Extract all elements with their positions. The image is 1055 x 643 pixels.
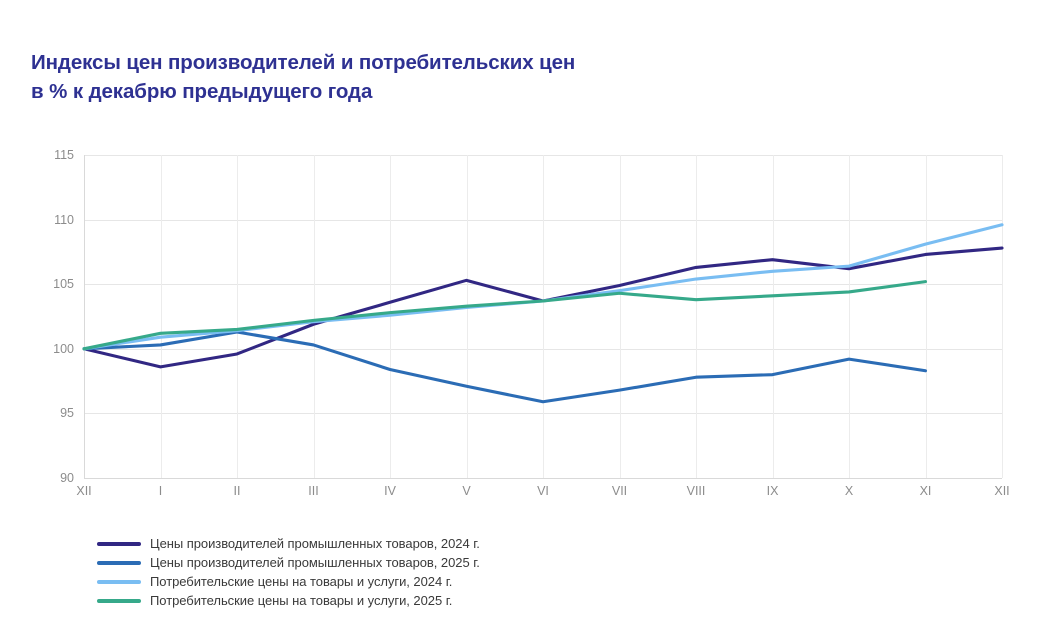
x-axis-tick-labels: XIIIIIIIIIVVVIVIIVIIIIXXXIXII (84, 484, 1002, 504)
y-tick-label: 95 (34, 406, 74, 420)
legend-swatch-icon (97, 561, 141, 565)
y-axis-tick-labels: 9095100105110115 (30, 155, 74, 478)
x-tick-label: XII (76, 484, 91, 498)
legend-swatch-icon (97, 542, 141, 546)
legend-item-label: Цены производителей промышленных товаров… (150, 536, 480, 551)
legend-item[interactable]: Потребительские цены на товары и услуги,… (97, 572, 797, 591)
legend-item[interactable]: Цены производителей промышленных товаров… (97, 553, 797, 572)
x-tick-label: XII (994, 484, 1009, 498)
x-tick-label: X (845, 484, 853, 498)
legend-item-label: Потребительские цены на товары и услуги,… (150, 574, 452, 589)
x-tick-label: VIII (687, 484, 706, 498)
y-tick-label: 110 (34, 213, 74, 227)
y-tick-label: 90 (34, 471, 74, 485)
series-line-1 (84, 248, 1002, 367)
x-tick-label: I (159, 484, 162, 498)
legend-swatch-icon (97, 599, 141, 603)
gridline-vertical (1002, 155, 1003, 478)
legend-item-label: Потребительские цены на товары и услуги,… (150, 593, 452, 608)
chart-page: Индексы цен производителей и потребитель… (0, 0, 1055, 643)
legend-item[interactable]: Потребительские цены на товары и услуги,… (97, 591, 797, 610)
legend-item-label: Цены производителей промышленных товаров… (150, 555, 480, 570)
x-tick-label: VII (612, 484, 627, 498)
y-tick-label: 115 (34, 148, 74, 162)
y-tick-label: 105 (34, 277, 74, 291)
gridline-horizontal (84, 478, 1002, 479)
x-tick-label: IX (767, 484, 779, 498)
legend-swatch-icon (97, 580, 141, 584)
x-tick-label: IV (384, 484, 396, 498)
chart-legend: Цены производителей промышленных товаров… (97, 534, 797, 610)
series-line-2 (84, 332, 926, 402)
series-lines (84, 155, 1002, 478)
x-tick-label: XI (920, 484, 932, 498)
x-tick-label: V (462, 484, 470, 498)
legend-item[interactable]: Цены производителей промышленных товаров… (97, 534, 797, 553)
x-tick-label: II (234, 484, 241, 498)
x-tick-label: VI (537, 484, 549, 498)
x-tick-label: III (308, 484, 318, 498)
y-tick-label: 100 (34, 342, 74, 356)
